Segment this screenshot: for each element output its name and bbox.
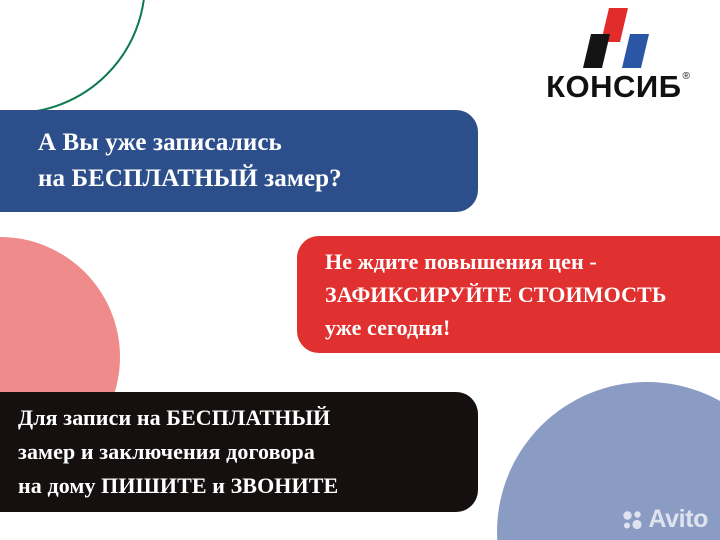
black-line-2: замер и заключения договора <box>18 435 478 469</box>
message-box-black: Для записи на БЕСПЛАТНЫЙ замер и заключе… <box>0 392 478 512</box>
advertisement-canvas: КОНСИБ ® А Вы уже записались на БЕСПЛАТН… <box>0 0 720 540</box>
registered-trademark-mark: ® <box>683 72 690 82</box>
black-line-1: Для записи на БЕСПЛАТНЫЙ <box>18 401 478 435</box>
avito-wordmark: Avito <box>648 507 708 532</box>
circle-green-outline <box>0 0 146 114</box>
red-line-2: ЗАФИКСИРУЙТЕ СТОИМОСТЬ <box>325 278 720 311</box>
brand-wordmark: КОНСИБ <box>546 71 681 102</box>
red-line-3: уже сегодня! <box>325 311 720 344</box>
message-box-red: Не ждите повышения цен - ЗАФИКСИРУЙТЕ СТ… <box>297 236 720 353</box>
avito-dots-icon <box>622 509 644 531</box>
avito-watermark: Avito <box>622 507 708 532</box>
headline-line-1: А Вы уже записались <box>38 125 478 161</box>
brand-logo: КОНСИБ ® <box>530 8 706 104</box>
konsib-parallelogram-mark-icon <box>579 8 657 70</box>
headline-line-2: на БЕСПЛАТНЫЙ замер? <box>38 161 478 197</box>
red-line-1: Не ждите повышения цен - <box>325 245 720 278</box>
headline-box-blue: А Вы уже записались на БЕСПЛАТНЫЙ замер? <box>0 110 478 212</box>
black-line-3: на дому ПИШИТЕ и ЗВОНИТЕ <box>18 469 478 503</box>
brand-wordmark-row: КОНСИБ ® <box>530 71 706 102</box>
